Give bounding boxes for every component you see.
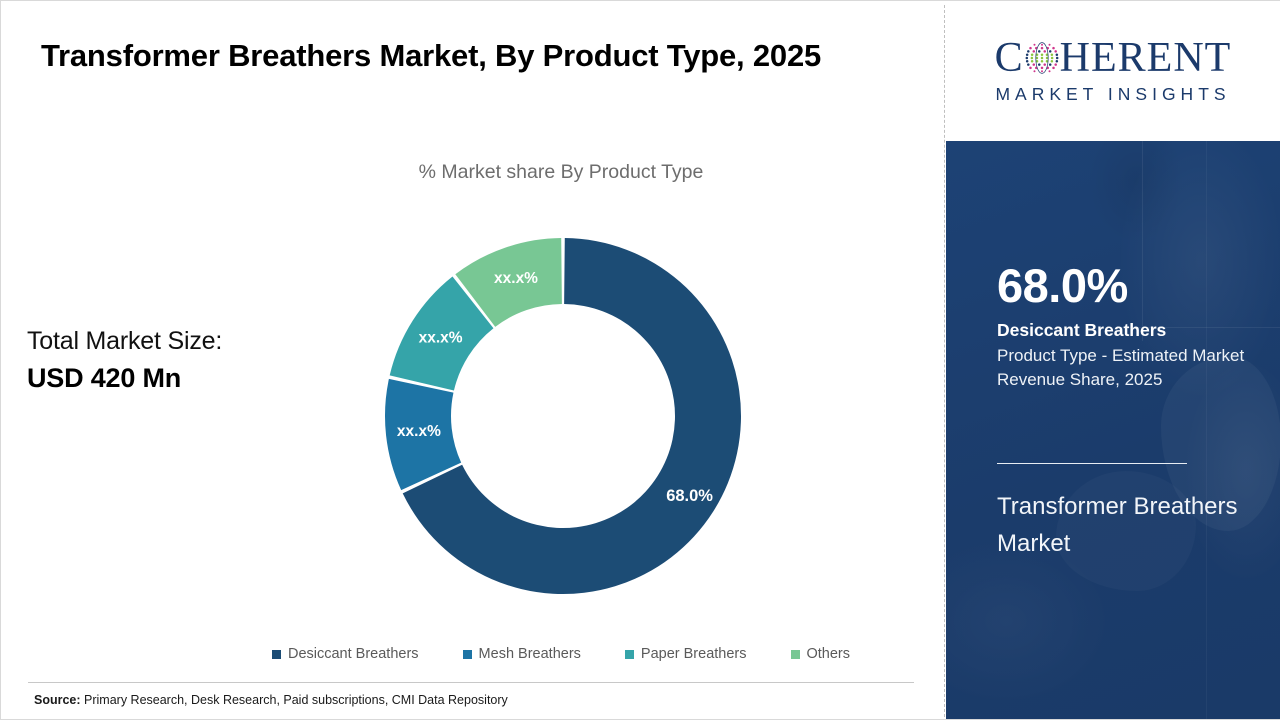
- donut-chart: 68.0% xx.x% xx.x% xx.x%: [381, 234, 745, 598]
- highlight-description: Product Type - Estimated Market Revenue …: [997, 344, 1255, 392]
- source-label: Source:: [34, 693, 81, 707]
- footer-divider: [28, 682, 914, 683]
- source-note: Source: Primary Research, Desk Research,…: [34, 693, 508, 707]
- legend-item-paper-breathers[interactable]: Paper Breathers: [625, 646, 747, 662]
- globe-dot: [1041, 70, 1043, 72]
- slice-label-mesh-breathers: xx.x%: [397, 423, 441, 440]
- globe-dot: [1048, 44, 1050, 46]
- panel-accent-line-vertical: [1142, 141, 1143, 341]
- sidebar-market-name: Transformer Breathers Market: [997, 489, 1247, 562]
- globe-dot: [1052, 67, 1055, 70]
- slice-label-others: xx.x%: [494, 270, 538, 287]
- logo-letter-c: C: [995, 37, 1024, 79]
- globe-dot: [1030, 57, 1033, 60]
- globe-dot: [1043, 63, 1046, 66]
- sidebar-highlight-panel: 68.0% Desiccant Breathers Product Type -…: [946, 141, 1280, 719]
- globe-dot: [1056, 57, 1059, 60]
- globe-dot: [1043, 50, 1046, 53]
- infographic-page: Transformer Breathers Market, By Product…: [0, 0, 1280, 720]
- globe-dot: [1049, 63, 1052, 66]
- globe-dot: [1033, 44, 1035, 46]
- logo-lockup: C HERENT MARKET INSIGHTS: [963, 37, 1263, 105]
- legend-swatch-icon: [463, 650, 472, 659]
- legend-label: Mesh Breathers: [479, 646, 581, 662]
- total-market-size-block: Total Market Size: USD 420 Mn: [27, 323, 317, 398]
- globe-dot: [1050, 53, 1053, 56]
- logo-tagline: MARKET INSIGHTS: [963, 84, 1263, 105]
- slice-label-paper-breathers: xx.x%: [419, 329, 463, 346]
- globe-dot: [1040, 47, 1043, 50]
- globe-dot: [1041, 44, 1043, 46]
- globe-dot: [1031, 53, 1034, 56]
- globe-dot: [1040, 60, 1043, 63]
- chart-subtitle: % Market share By Product Type: [201, 161, 921, 184]
- chart-legend: Desiccant BreathersMesh BreathersPaper B…: [201, 646, 921, 662]
- page-title: Transformer Breathers Market, By Product…: [41, 33, 911, 80]
- globe-dot: [1055, 53, 1058, 56]
- globe-dot: [1055, 60, 1058, 63]
- donut-chart-svg: 68.0% xx.x% xx.x% xx.x%: [381, 234, 745, 598]
- legend-item-others[interactable]: Others: [791, 646, 851, 662]
- globe-dot: [1029, 67, 1032, 70]
- left-content-area: Transformer Breathers Market, By Product…: [1, 1, 944, 719]
- brand-logo: C HERENT MARKET INSIGHTS: [946, 1, 1280, 141]
- legend-item-desiccant-breathers[interactable]: Desiccant Breathers: [272, 646, 419, 662]
- vertical-dashed-divider: [944, 5, 945, 717]
- legend-label: Desiccant Breathers: [288, 646, 419, 662]
- globe-dot: [1040, 57, 1043, 60]
- legend-swatch-icon: [272, 650, 281, 659]
- globe-dot: [1051, 57, 1054, 60]
- globe-dot: [1052, 47, 1055, 50]
- globe-dot: [1054, 50, 1057, 53]
- globe-dot: [1033, 70, 1035, 72]
- globe-dotted-icon: [1025, 41, 1059, 75]
- total-market-size-value: USD 420 Mn: [27, 359, 317, 398]
- globe-dot: [1026, 60, 1029, 63]
- total-market-size-label: Total Market Size:: [27, 323, 317, 359]
- legend-swatch-icon: [791, 650, 800, 659]
- logo-wordmark: C HERENT: [963, 37, 1263, 79]
- source-text: Primary Research, Desk Research, Paid su…: [81, 693, 508, 707]
- sidebar: C HERENT MARKET INSIGHTS 68.0% Desicc: [946, 1, 1280, 719]
- slice-label-desiccant-breathers: 68.0%: [666, 487, 713, 505]
- logo-wordmark-rest: HERENT: [1060, 37, 1232, 79]
- donut-slices: [385, 238, 741, 594]
- globe-dot: [1032, 50, 1035, 53]
- legend-label: Others: [807, 646, 851, 662]
- globe-dot: [1032, 63, 1035, 66]
- globe-dot: [1029, 47, 1032, 50]
- sidebar-divider: [997, 463, 1187, 464]
- legend-label: Paper Breathers: [641, 646, 747, 662]
- globe-dot: [1025, 57, 1028, 60]
- globe-dot: [1026, 53, 1029, 56]
- globe-dot: [1040, 67, 1043, 70]
- highlight-percent: 68.0%: [997, 262, 1128, 309]
- globe-dot: [1031, 60, 1034, 63]
- legend-swatch-icon: [625, 650, 634, 659]
- legend-item-mesh-breathers[interactable]: Mesh Breathers: [463, 646, 581, 662]
- globe-dot: [1048, 70, 1050, 72]
- globe-dot: [1050, 60, 1053, 63]
- globe-dotted-icon-svg: [1025, 41, 1059, 75]
- globe-dot: [1038, 63, 1041, 66]
- globe-dot: [1027, 63, 1030, 66]
- globe-dot: [1049, 50, 1052, 53]
- globe-dot: [1038, 50, 1041, 53]
- globe-dot: [1040, 53, 1043, 56]
- highlight-segment-name: Desiccant Breathers: [997, 319, 1259, 343]
- globe-dot: [1054, 63, 1057, 66]
- globe-dot: [1027, 50, 1030, 53]
